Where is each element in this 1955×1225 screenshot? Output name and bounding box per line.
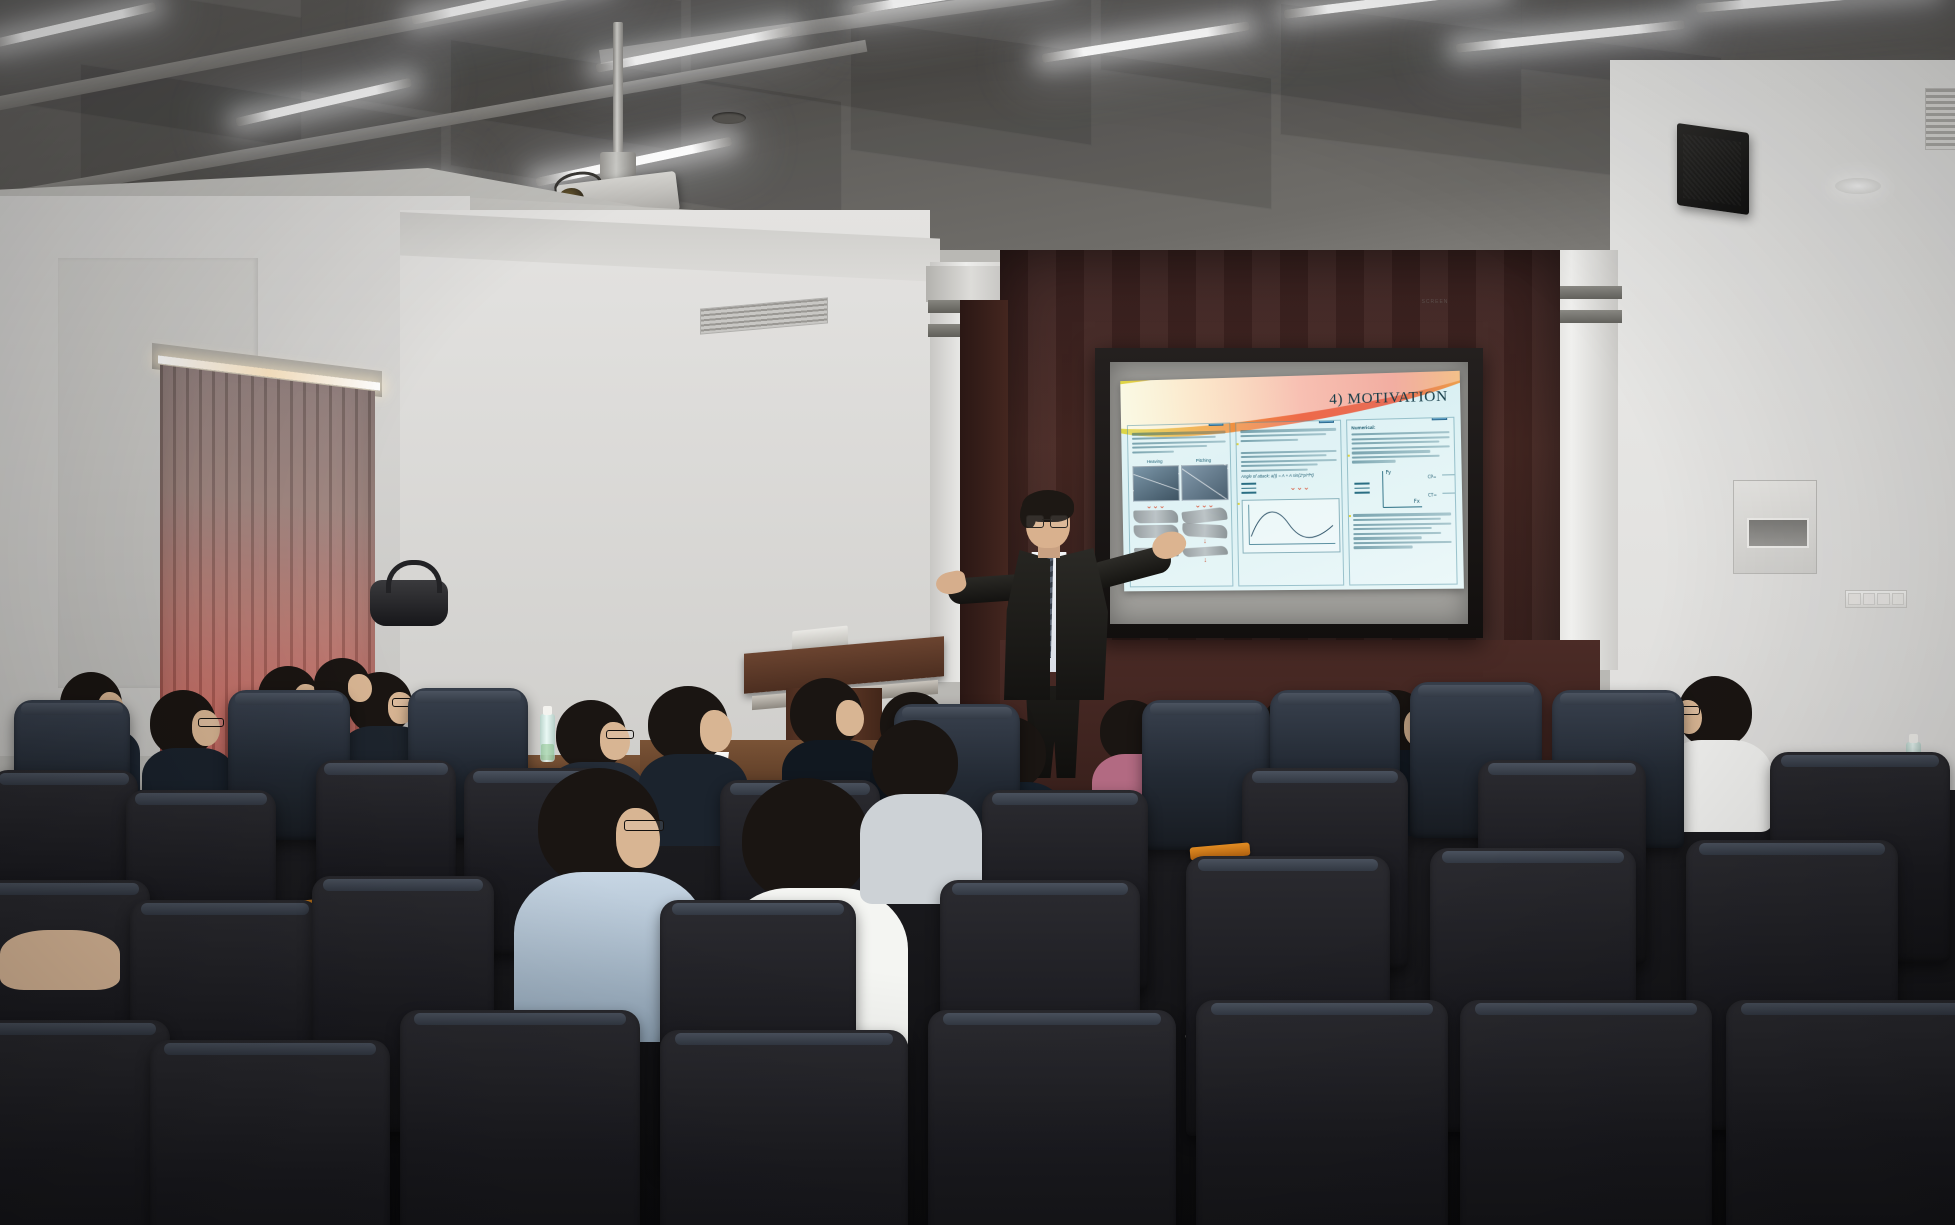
auditorium-seat[interactable] bbox=[400, 1010, 640, 1225]
auditorium-seat[interactable] bbox=[0, 1020, 170, 1225]
lecture-hall-photo: ▪▪▪▪ SCREEN 4) MOTIVATION (a) bbox=[0, 0, 1955, 1225]
chevron-down-icon: ⌄⌄⌄ bbox=[1262, 484, 1337, 490]
svg-text:CP=: CP= bbox=[1428, 474, 1437, 479]
angle-of-attack-plot bbox=[1242, 498, 1341, 553]
arrow-down-icon: ↓ bbox=[1182, 539, 1227, 546]
projection-screen: 4) MOTIVATION (a) Heaving bbox=[1110, 362, 1468, 624]
slide-label-heaving: Heaving bbox=[1132, 458, 1177, 464]
ceiling-vent-icon bbox=[712, 112, 746, 124]
projector-mount-pole bbox=[613, 22, 623, 162]
slide-column-c: (c) Numerical: Fy bbox=[1346, 417, 1458, 586]
slide-label-pitching: Pitching bbox=[1181, 457, 1226, 463]
slide-title: 4) MOTIVATION bbox=[1329, 388, 1448, 408]
svg-text:CT=: CT= bbox=[1428, 492, 1437, 497]
recessed-downlight bbox=[1835, 178, 1881, 194]
air-conditioning-grille-icon bbox=[1925, 88, 1955, 150]
arrow-down-icon: ↓ bbox=[1183, 558, 1228, 564]
presentation-slide: 4) MOTIVATION (a) Heaving bbox=[1120, 371, 1464, 592]
svg-text:Fy: Fy bbox=[1386, 470, 1392, 476]
screen-brand-mark: SCREEN bbox=[1405, 299, 1465, 307]
speaker-grille-icon bbox=[1683, 134, 1741, 206]
auditorium-seat[interactable] bbox=[928, 1010, 1176, 1225]
auditorium-seat[interactable] bbox=[150, 1040, 390, 1225]
svg-text:Fx: Fx bbox=[1414, 499, 1420, 505]
slide-column-b: (b) Angle of attack: a(t) = A + A sin(2*… bbox=[1235, 420, 1344, 587]
slide-columns: (a) Heaving Pitching bbox=[1127, 417, 1458, 588]
slide-badge-c: (c) bbox=[1432, 417, 1448, 421]
slide-badge-b: (b) bbox=[1319, 420, 1334, 424]
force-axes-diagram: Fy Fx CP= CT= bbox=[1352, 464, 1451, 512]
electrical-panel-window bbox=[1747, 518, 1809, 548]
auditorium-seat[interactable] bbox=[1460, 1000, 1712, 1225]
slide-badge-a: (a) bbox=[1208, 422, 1223, 426]
turbine-thumbnail-pitching bbox=[1181, 464, 1229, 501]
water-bottle bbox=[540, 714, 555, 762]
light-switch-plate[interactable] bbox=[1845, 590, 1907, 608]
eyeglasses-icon bbox=[1026, 515, 1068, 526]
auditorium-seat[interactable] bbox=[1726, 1000, 1955, 1225]
auditorium-seat[interactable] bbox=[660, 1030, 908, 1225]
auditorium-seat[interactable] bbox=[1196, 1000, 1448, 1225]
presenter-jacket-left bbox=[1004, 550, 1050, 700]
slide-heading-numerical: Numerical: bbox=[1351, 423, 1449, 430]
